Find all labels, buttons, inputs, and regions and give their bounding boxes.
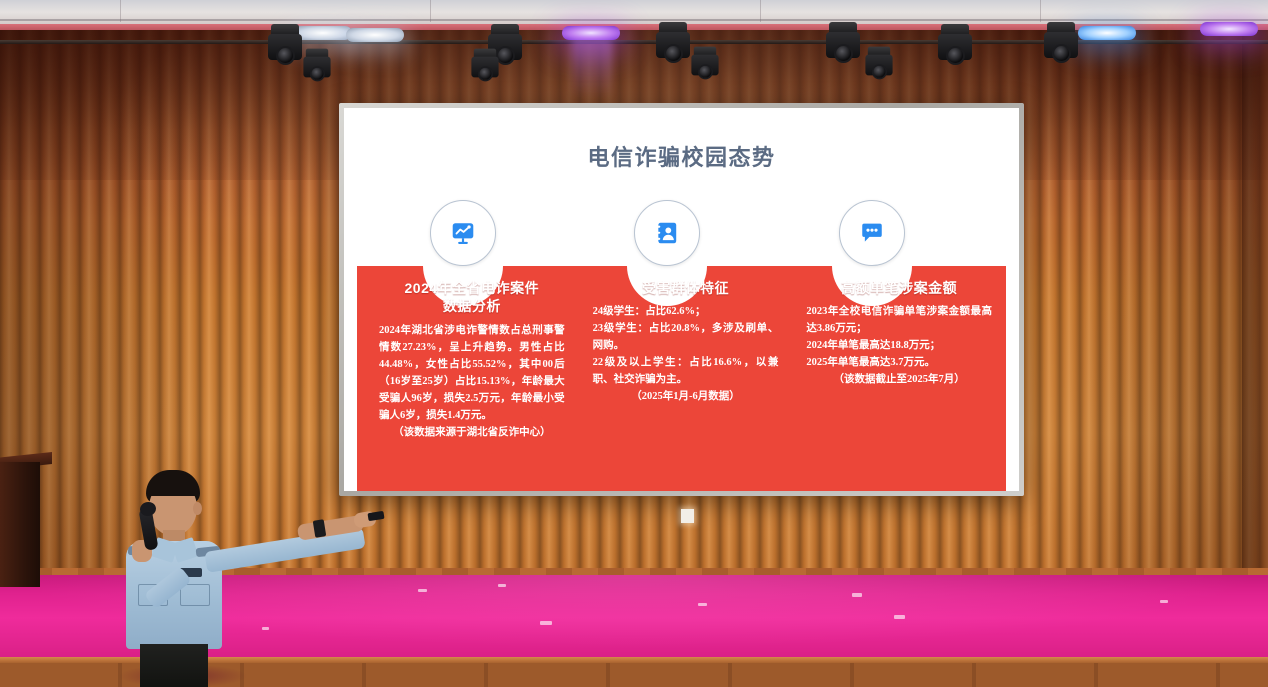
presenter-trousers (140, 644, 208, 687)
moving-head-light (691, 47, 718, 84)
light-beam (572, 38, 612, 98)
ceiling-tile (1040, 0, 1041, 22)
column-1-heading: 2024年全省电诈案件数据分析 (379, 279, 565, 316)
slide-column-1: 2024年全省电诈案件数据分析 2024年湖北省涉电诈警情数占总刑事警情数27.… (357, 233, 579, 491)
ceiling-seam (0, 19, 1268, 21)
badge-1 (430, 200, 496, 266)
right-wall-panel (1242, 30, 1268, 590)
column-1-text: 2024年湖北省涉电诈警情数占总刑事警情数27.23%，呈上升趋势。男性占比44… (379, 322, 565, 424)
slide-title: 电信诈骗校园态势 (344, 140, 1019, 172)
ceiling-tile (120, 0, 121, 22)
column-2-text: 24级学生：占比62.6%；23级学生：占比20.8%，多涉及刷单、网购。22级… (593, 303, 779, 388)
panel-light-white (346, 28, 404, 42)
moving-head-light (303, 49, 330, 86)
panel-light-blue (1078, 26, 1136, 40)
presenter-ear (193, 502, 202, 515)
moving-head-light (471, 49, 498, 86)
moving-head-light (268, 24, 302, 70)
monitor-chart-icon (450, 220, 476, 246)
presenter-hairline (147, 474, 199, 496)
ceiling-tile (760, 0, 761, 22)
chat-bubble-icon (859, 220, 885, 246)
column-3-text: 2023年全校电信诈骗单笔涉案金额最高达3.86万元；2024年单笔最高达18.… (806, 303, 992, 371)
presenter (118, 468, 378, 687)
badge-2 (634, 200, 700, 266)
curtain-light-spot (681, 509, 694, 523)
moving-head-light (1044, 22, 1078, 68)
moving-head-light (656, 22, 690, 68)
panel-light-white (294, 26, 352, 40)
column-1-note: （该数据来源于湖北省反诈中心） (379, 424, 565, 441)
column-2-note: （2025年1月-6月数据） (593, 388, 779, 405)
column-1-body: 2024年湖北省涉电诈警情数占总刑事警情数27.23%，呈上升趋势。男性占比44… (379, 322, 565, 441)
column-2-heading: 受害群体特征 (593, 279, 779, 297)
address-book-icon (654, 220, 680, 246)
projection-screen-frame: 电信诈骗校园态势 2024年全省电诈案件数据分析 2024年湖北省涉电诈警情数占… (339, 103, 1024, 496)
column-3-body: 2023年全校电信诈骗单笔涉案金额最高达3.86万元；2024年单笔最高达18.… (806, 303, 992, 388)
panel-light-purple (1200, 22, 1258, 36)
column-3-note: （该数据截止至2025年7月） (806, 371, 992, 388)
ceiling-tile (430, 0, 431, 22)
slide-columns: 2024年全省电诈案件数据分析 2024年湖北省涉电诈警情数占总刑事警情数27.… (357, 233, 1006, 491)
slide-column-2: 受害群体特征 24级学生：占比62.6%；23级学生：占比20.8%，多涉及刷单… (579, 233, 793, 491)
column-2-body: 24级学生：占比62.6%；23级学生：占比20.8%，多涉及刷单、网购。22级… (593, 303, 779, 405)
slide-column-3: 高额单笔涉案金额 2023年全校电信诈骗单笔涉案金额最高达3.86万元；2024… (792, 233, 1006, 491)
moving-head-light (865, 47, 892, 84)
presenter-pocket (180, 584, 210, 606)
auditorium-scene: 电信诈骗校园态势 2024年全省电诈案件数据分析 2024年湖北省涉电诈警情数占… (0, 0, 1268, 687)
column-3-heading: 高额单笔涉案金额 (806, 279, 992, 297)
projection-screen: 电信诈骗校园态势 2024年全省电诈案件数据分析 2024年湖北省涉电诈警情数占… (344, 108, 1019, 491)
badge-3 (839, 200, 905, 266)
moving-head-light (938, 24, 972, 70)
moving-head-light (826, 22, 860, 68)
podium (0, 462, 40, 587)
